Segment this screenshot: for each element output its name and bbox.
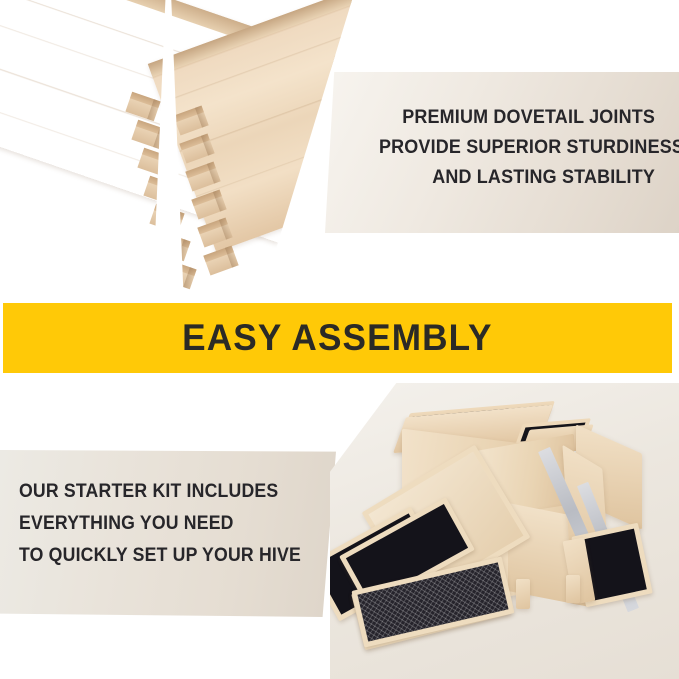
dovetail-headline-line-3: AND LASTING STABILITY — [379, 162, 655, 192]
product-feature-poster: PREMIUM DOVETAIL JOINTS PROVIDE SUPERIOR… — [0, 0, 679, 679]
dovetail-headline: PREMIUM DOVETAIL JOINTS PROVIDE SUPERIOR… — [379, 102, 655, 192]
beehive-starter-kit-photo — [330, 383, 679, 679]
dovetail-headline-line-2: PROVIDE SUPERIOR STURDINESS — [379, 132, 655, 162]
hive-stand-leg — [516, 579, 530, 609]
dovetail-joint-photo — [0, 0, 352, 300]
starter-kit-headline-line-2: EVERYTHING YOU NEED — [19, 508, 298, 540]
starter-kit-headline: OUR STARTER KIT INCLUDES EVERYTHING YOU … — [19, 476, 298, 572]
easy-assembly-banner: EASY ASSEMBLY — [3, 303, 672, 373]
starter-kit-headline-line-1: OUR STARTER KIT INCLUDES — [19, 476, 298, 508]
dovetail-text-panel: PREMIUM DOVETAIL JOINTS PROVIDE SUPERIOR… — [325, 72, 679, 233]
hive-stand-leg — [566, 575, 580, 603]
starter-kit-text-panel: OUR STARTER KIT INCLUDES EVERYTHING YOU … — [0, 450, 336, 617]
starter-kit-headline-line-3: TO QUICKLY SET UP YOUR HIVE — [19, 540, 298, 572]
box-joint-finger — [203, 246, 238, 276]
easy-assembly-label: EASY ASSEMBLY — [182, 317, 492, 359]
dovetail-headline-line-1: PREMIUM DOVETAIL JOINTS — [379, 102, 655, 132]
